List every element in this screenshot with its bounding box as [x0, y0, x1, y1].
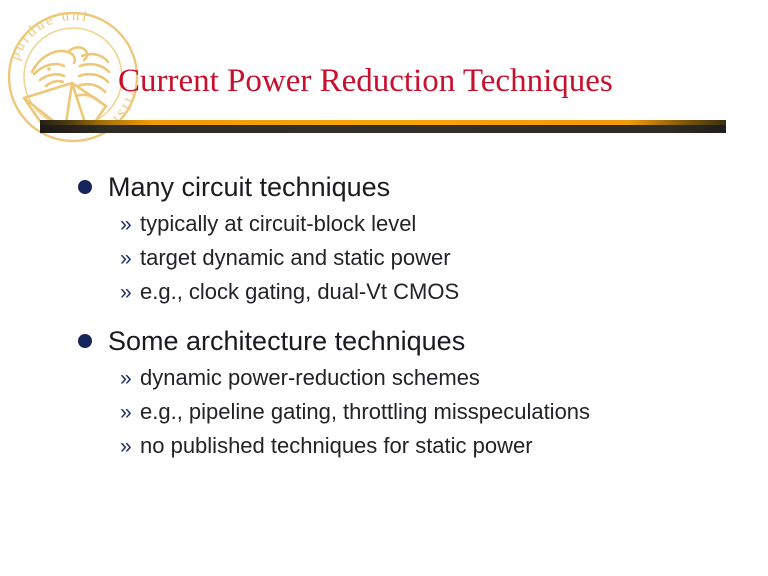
bullet-level1-label: Many circuit techniques — [108, 170, 390, 204]
guillemet-marker-icon: » — [120, 245, 140, 272]
title-divider-bar — [40, 120, 726, 133]
slide-body: Many circuit techniques » typically at c… — [0, 160, 768, 460]
guillemet-marker-icon: » — [120, 211, 140, 238]
slide: purdue uni ytisrev — [0, 0, 768, 576]
divider-dark-stripe — [40, 125, 726, 133]
bullet-point-level2: » dynamic power-reduction schemes — [0, 364, 768, 392]
bullet-disc-icon — [78, 334, 92, 348]
guillemet-marker-icon: » — [120, 365, 140, 392]
guillemet-marker-icon: » — [120, 433, 140, 460]
bullet-point-level2: » typically at circuit-block level — [0, 210, 768, 238]
bullet-point-level2: » e.g., pipeline gating, throttling miss… — [0, 398, 768, 426]
svg-text:purdue uni: purdue uni — [7, 8, 91, 63]
bullet-level2-label: target dynamic and static power — [140, 244, 451, 271]
guillemet-marker-icon: » — [120, 279, 140, 306]
bullet-point-level2: » target dynamic and static power — [0, 244, 768, 272]
bullet-level1-label: Some architecture techniques — [108, 324, 465, 358]
bullet-level2-label: e.g., clock gating, dual-Vt CMOS — [140, 278, 459, 305]
bullet-level2-label: no published techniques for static power — [140, 432, 533, 459]
bullet-point-level2: » e.g., clock gating, dual-Vt CMOS — [0, 278, 768, 306]
bullet-level2-label: dynamic power-reduction schemes — [140, 364, 480, 391]
bullet-point-level1: Many circuit techniques — [0, 170, 768, 204]
guillemet-marker-icon: » — [120, 399, 140, 426]
bullet-level2-label: e.g., pipeline gating, throttling misspe… — [140, 398, 590, 425]
bullet-level2-label: typically at circuit-block level — [140, 210, 416, 237]
slide-title: Current Power Reduction Techniques — [118, 62, 738, 100]
bullet-point-level1: Some architecture techniques — [0, 324, 768, 358]
bullet-disc-icon — [78, 180, 92, 194]
group-spacer — [0, 306, 768, 314]
bullet-point-level2: » no published techniques for static pow… — [0, 432, 768, 460]
